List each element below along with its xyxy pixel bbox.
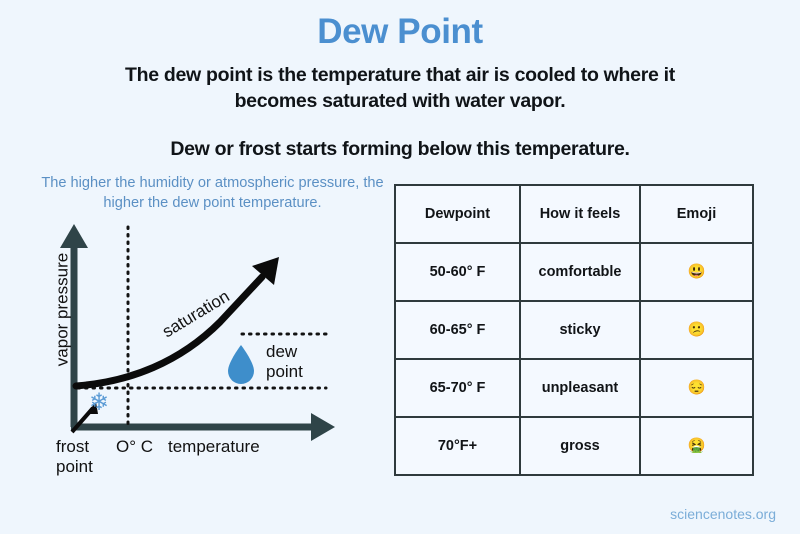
pensive-face-emoji: 😔	[640, 359, 753, 417]
cell-dewpoint: 50-60° F	[395, 243, 520, 301]
dewpoint-feel-table: Dewpoint How it feels Emoji 50-60° F com…	[394, 184, 754, 476]
snowflake-icon: ❄	[89, 391, 109, 415]
confused-face-emoji: 😕	[640, 301, 753, 359]
cell-feels: unpleasant	[520, 359, 640, 417]
site-credit: sciencenotes.org	[670, 506, 776, 522]
column-header-how-it-feels: How it feels	[520, 185, 640, 243]
table-header-row: Dewpoint How it feels Emoji	[395, 185, 753, 243]
cell-dewpoint: 60-65° F	[395, 301, 520, 359]
column-header-emoji: Emoji	[640, 185, 753, 243]
cell-feels: comfortable	[520, 243, 640, 301]
table-row: 70°F+ gross 🤮	[395, 417, 753, 475]
x-axis-label: temperature	[168, 437, 260, 456]
cell-feels: gross	[520, 417, 640, 475]
column-header-dewpoint: Dewpoint	[395, 185, 520, 243]
vomiting-face-emoji: 🤮	[640, 417, 753, 475]
page-title: Dew Point	[0, 12, 800, 52]
cell-dewpoint: 65-70° F	[395, 359, 520, 417]
table-row: 50-60° F comfortable 😃	[395, 243, 753, 301]
dew-point-label: dew point	[266, 342, 330, 382]
cell-feels: sticky	[520, 301, 640, 359]
humidity-note: The higher the humidity or atmospheric p…	[40, 173, 385, 213]
cell-dewpoint: 70°F+	[395, 417, 520, 475]
water-drop-icon	[228, 345, 254, 384]
subtitle-formation: Dew or frost starts forming below this t…	[100, 138, 700, 161]
zero-celsius-label: O° C	[116, 437, 153, 456]
table-row: 60-65° F sticky 😕	[395, 301, 753, 359]
subtitle-definition: The dew point is the temperature that ai…	[120, 62, 680, 114]
frost-point-label: frost point	[56, 437, 116, 477]
grinning-face-emoji: 😃	[640, 243, 753, 301]
y-axis-label: vapor pressure	[53, 240, 72, 380]
vapor-pressure-chart: ❄ vapor pressure temperature O° C frost …	[30, 222, 380, 492]
table-row: 65-70° F unpleasant 😔	[395, 359, 753, 417]
